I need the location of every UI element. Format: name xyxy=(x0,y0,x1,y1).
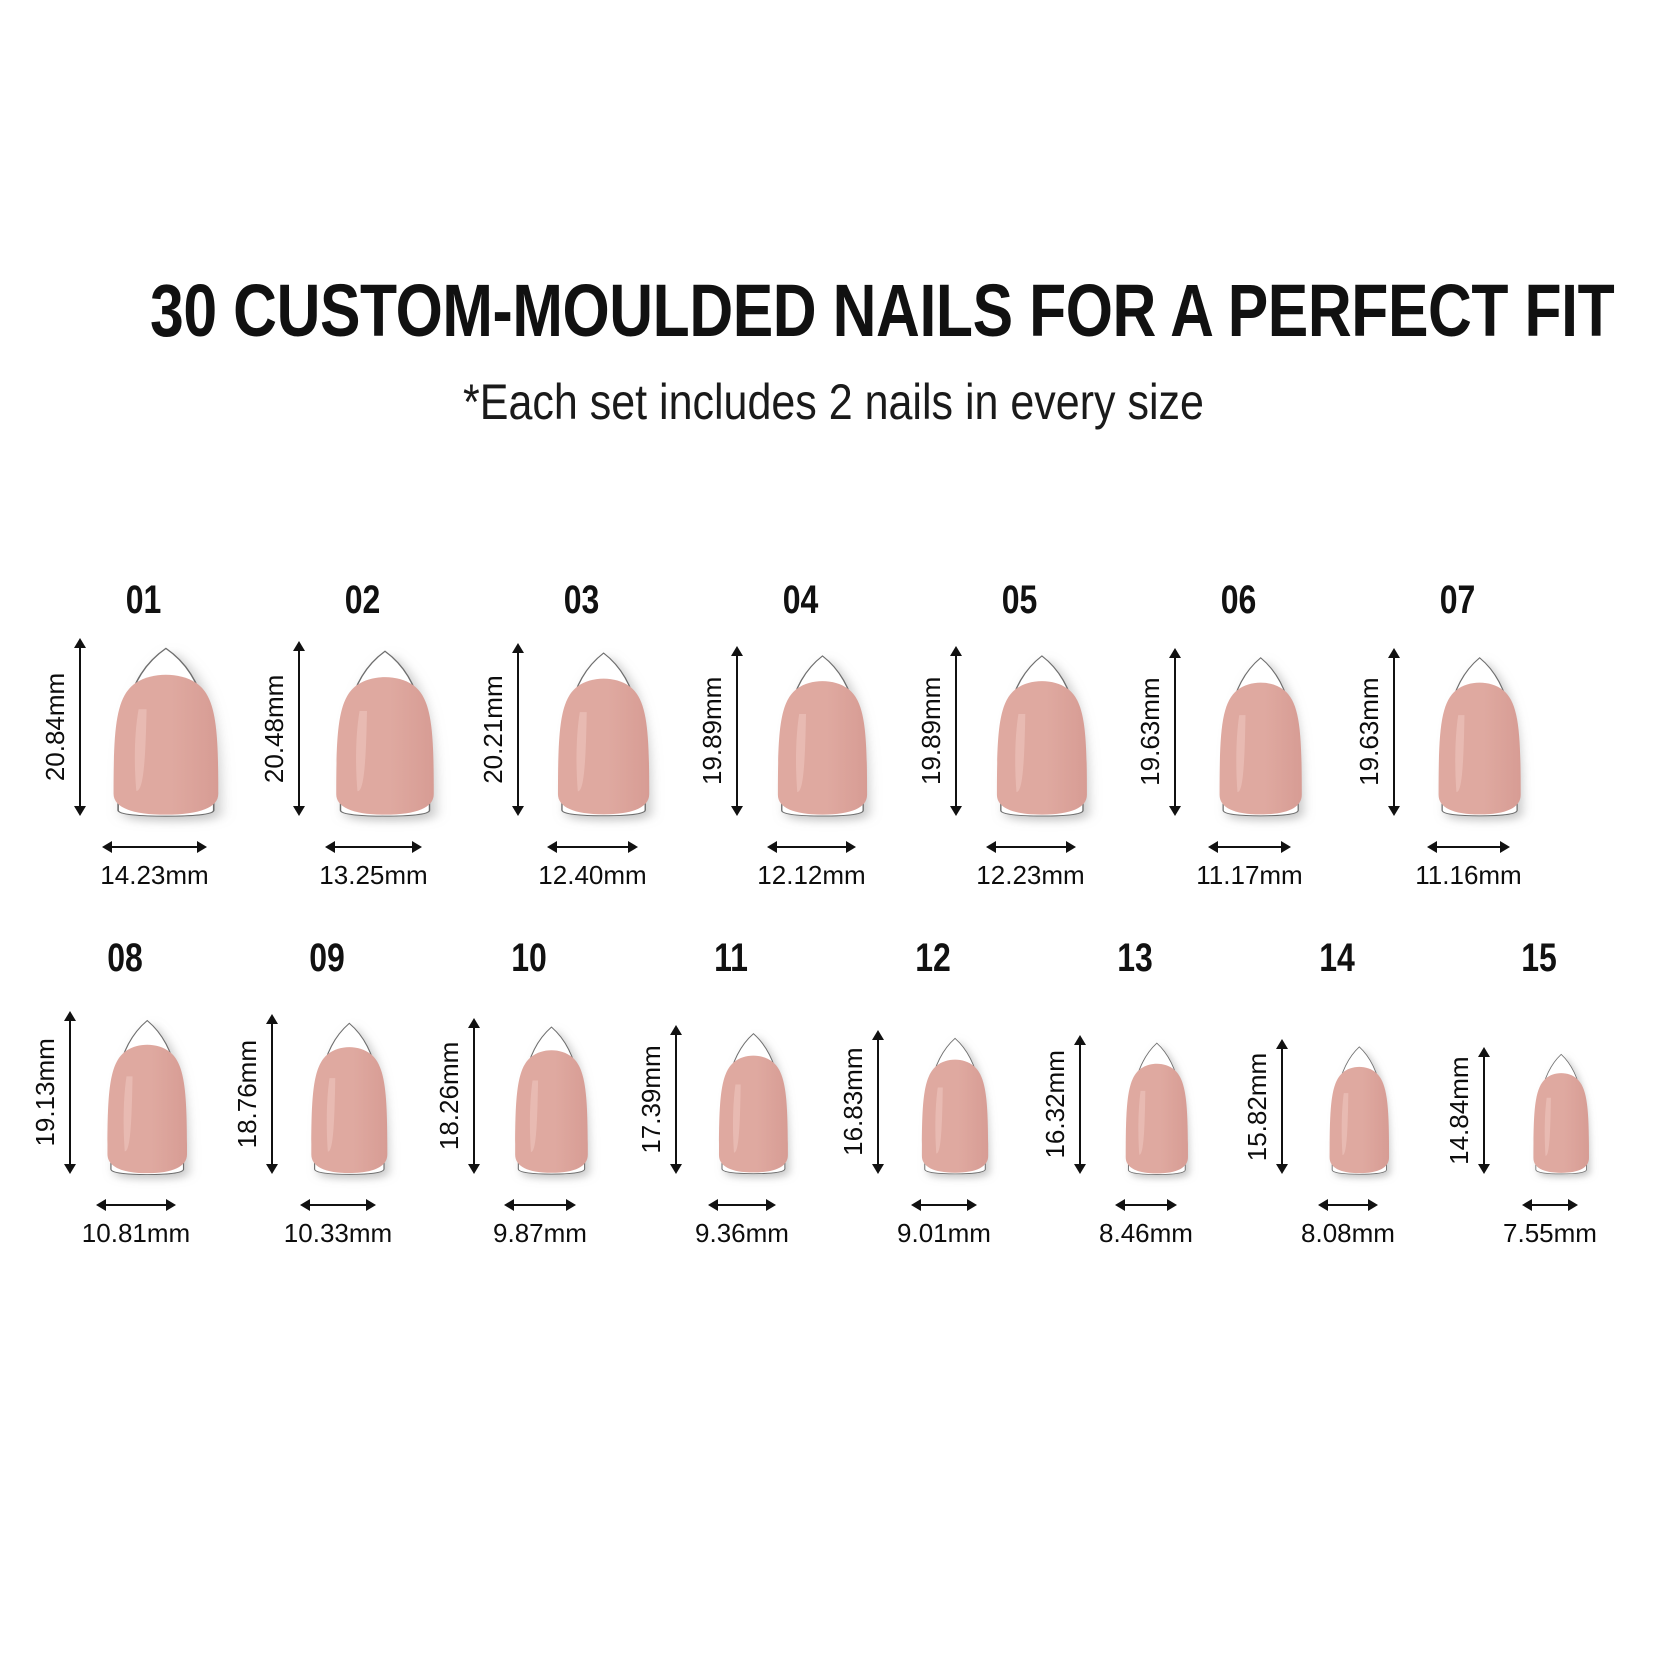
nail-height-label: 20.21mm xyxy=(480,643,506,816)
nail-pink-overlay xyxy=(719,1056,788,1173)
page-subtitle: *Each set includes 2 nails in every size xyxy=(117,350,1551,430)
nail-width-measure: 9.01mm xyxy=(832,1198,1034,1247)
nail-width-arrow-line xyxy=(767,840,856,854)
nail-width-measure: 7.55mm xyxy=(1438,1198,1640,1247)
nail-figure-group: 19.63mm xyxy=(1348,638,1567,868)
nail-size-number: 12 xyxy=(852,938,1014,978)
nail-figure-group: 16.83mm xyxy=(832,996,1034,1226)
arrow-right-icon xyxy=(166,1199,176,1211)
nail-height-arrow-line xyxy=(1073,1035,1087,1175)
nail-shape-illustration xyxy=(1435,648,1524,816)
nail-width-label: 14.23mm xyxy=(100,861,208,889)
nail-figure-group: 20.21mm xyxy=(472,638,691,868)
nail-width-measure: 11.17mm xyxy=(1129,840,1348,889)
nail-height-label: 14.84mm xyxy=(1446,1047,1472,1174)
nail-width-label: 7.55mm xyxy=(1503,1219,1597,1247)
nail-width-measure: 13.25mm xyxy=(253,840,472,889)
nail-shape-illustration xyxy=(512,1018,591,1174)
arrow-left-icon xyxy=(547,841,557,853)
arrow-right-icon xyxy=(1500,841,1510,853)
nail-width-measure: 8.08mm xyxy=(1236,1198,1438,1247)
nail-width-label: 12.23mm xyxy=(976,861,1084,889)
nail-height-measure: 19.63mm xyxy=(1356,648,1401,816)
nail-figure-group: 20.84mm xyxy=(34,638,253,868)
infographic-header: 30 CUSTOM-MOULDED NAILS FOR A PERFECT FI… xyxy=(0,0,1667,430)
nail-svg xyxy=(109,638,223,816)
arrow-up-icon xyxy=(670,1025,682,1035)
nail-pink-overlay xyxy=(1330,1067,1389,1173)
nail-svg xyxy=(308,1014,391,1174)
nail-width-measure: 11.16mm xyxy=(1348,840,1567,889)
nail-pink-overlay xyxy=(922,1060,988,1173)
nail-width-measure: 10.81mm xyxy=(24,1198,226,1247)
nail-figure-group: 19.63mm xyxy=(1129,638,1348,868)
nail-size-number: 02 xyxy=(275,580,450,620)
nail-height-label: 18.76mm xyxy=(234,1014,260,1174)
arrow-left-icon xyxy=(767,841,777,853)
arrow-up-icon xyxy=(950,646,962,656)
arrow-left-icon xyxy=(1115,1199,1125,1211)
arrow-up-icon xyxy=(74,638,86,648)
nail-svg xyxy=(1531,1047,1591,1174)
nail-pink-overlay xyxy=(1220,683,1302,815)
arrow-up-icon xyxy=(1276,1039,1288,1049)
nail-shape-illustration xyxy=(716,1025,791,1174)
arrow-left-icon xyxy=(504,1199,514,1211)
arrow-right-icon xyxy=(566,1199,576,1211)
nail-height-arrow-line xyxy=(949,646,963,816)
nail-width-measure: 12.40mm xyxy=(472,840,691,889)
nail-width-label: 8.46mm xyxy=(1099,1219,1193,1247)
nail-width-label: 13.25mm xyxy=(319,861,427,889)
nail-width-measure: 9.36mm xyxy=(630,1198,832,1247)
nail-height-measure: 17.39mm xyxy=(638,1025,683,1174)
arrow-down-icon xyxy=(512,806,524,816)
nail-height-measure: 18.26mm xyxy=(436,1018,481,1174)
arrow-right-icon xyxy=(197,841,207,853)
nail-size-number: 15 xyxy=(1458,938,1620,978)
nail-height-arrow-line xyxy=(730,646,744,816)
nail-shape-illustration xyxy=(774,646,871,816)
nail-width-arrow-line xyxy=(96,1198,176,1212)
nail-size-number: 09 xyxy=(246,938,408,978)
nail-height-label: 19.13mm xyxy=(32,1011,58,1175)
arrow-down-icon xyxy=(266,1164,278,1174)
arrow-up-icon xyxy=(1478,1047,1490,1057)
nail-width-arrow-line xyxy=(986,840,1076,854)
nail-svg xyxy=(512,1018,591,1174)
arrow-left-icon xyxy=(325,841,335,853)
arrow-left-icon xyxy=(102,841,112,853)
nail-height-measure: 19.89mm xyxy=(699,646,744,816)
nail-height-measure: 15.82mm xyxy=(1244,1039,1289,1174)
arrow-right-icon xyxy=(1167,1199,1177,1211)
arrow-down-icon xyxy=(872,1164,884,1174)
nail-svg xyxy=(1327,1039,1392,1174)
nail-pink-overlay xyxy=(114,675,219,815)
nail-size-number: 01 xyxy=(56,580,231,620)
nail-svg xyxy=(332,641,438,816)
nail-height-label: 16.32mm xyxy=(1042,1035,1068,1175)
nail-height-label: 18.26mm xyxy=(436,1018,462,1174)
nail-pink-overlay xyxy=(778,681,867,815)
nail-width-arrow-line xyxy=(911,1198,977,1212)
nail-size-number: 08 xyxy=(44,938,206,978)
arrow-left-icon xyxy=(1208,841,1218,853)
nail-pink-overlay xyxy=(997,681,1087,815)
nail-svg xyxy=(1123,1035,1191,1175)
nail-pink-overlay xyxy=(1439,683,1521,815)
arrow-left-icon xyxy=(1318,1199,1328,1211)
nail-width-label: 10.33mm xyxy=(284,1219,392,1247)
nail-size-number: 10 xyxy=(448,938,610,978)
nail-width-arrow-line xyxy=(1427,840,1509,854)
nail-width-measure: 10.33mm xyxy=(226,1198,428,1247)
nail-height-measure: 20.84mm xyxy=(42,638,87,816)
arrow-up-icon xyxy=(266,1014,278,1024)
nail-size-number: 06 xyxy=(1151,580,1326,620)
nail-figure-group: 19.89mm xyxy=(910,638,1129,868)
nail-height-measure: 19.89mm xyxy=(918,646,963,816)
nail-height-measure: 16.32mm xyxy=(1042,1035,1087,1175)
arrow-down-icon xyxy=(293,806,305,816)
arrow-up-icon xyxy=(1388,648,1400,658)
arrow-left-icon xyxy=(1522,1199,1532,1211)
nail-height-arrow-line xyxy=(511,643,525,816)
nail-height-measure: 20.21mm xyxy=(480,643,525,816)
nail-figure-group: 14.84mm xyxy=(1438,996,1640,1226)
arrow-down-icon xyxy=(1074,1164,1086,1174)
arrow-down-icon xyxy=(1388,806,1400,816)
nail-width-arrow-line xyxy=(1208,840,1290,854)
nail-pink-overlay xyxy=(558,679,649,815)
nail-pink-overlay xyxy=(515,1050,588,1173)
nail-width-measure: 12.12mm xyxy=(691,840,910,889)
nail-svg xyxy=(716,1025,791,1174)
arrow-left-icon xyxy=(1427,841,1437,853)
arrow-up-icon xyxy=(1074,1035,1086,1045)
nail-height-label: 19.89mm xyxy=(699,646,725,816)
arrow-right-icon xyxy=(366,1199,376,1211)
arrow-down-icon xyxy=(1478,1164,1490,1174)
nail-height-arrow-line xyxy=(1168,648,1182,816)
nail-height-arrow-line xyxy=(467,1018,481,1174)
arrow-down-icon xyxy=(1169,806,1181,816)
nail-width-label: 8.08mm xyxy=(1301,1219,1395,1247)
nail-figure-group: 20.48mm xyxy=(253,638,472,868)
nail-height-arrow-line xyxy=(1275,1039,1289,1174)
nail-height-arrow-line xyxy=(871,1030,885,1174)
nail-size-number: 14 xyxy=(1256,938,1418,978)
arrow-up-icon xyxy=(64,1011,76,1021)
nail-width-arrow-line xyxy=(102,840,207,854)
nail-size-number: 05 xyxy=(932,580,1107,620)
nail-svg xyxy=(993,646,1091,816)
nail-pink-overlay xyxy=(1533,1073,1589,1173)
nail-svg xyxy=(1216,648,1305,816)
arrow-right-icon xyxy=(412,841,422,853)
nail-width-measure: 14.23mm xyxy=(34,840,253,889)
nail-height-arrow-line xyxy=(1387,648,1401,816)
nail-height-measure: 20.48mm xyxy=(261,641,306,816)
nail-width-arrow-line xyxy=(1318,1198,1377,1212)
nail-size-number: 04 xyxy=(713,580,888,620)
nail-width-arrow-line xyxy=(708,1198,777,1212)
nail-height-arrow-line xyxy=(1477,1047,1491,1174)
nail-shape-illustration xyxy=(308,1014,391,1174)
nail-width-measure: 12.23mm xyxy=(910,840,1129,889)
nail-figure-group: 18.76mm xyxy=(226,996,428,1226)
arrow-down-icon xyxy=(468,1164,480,1174)
nail-height-measure: 18.76mm xyxy=(234,1014,279,1174)
nail-width-label: 12.40mm xyxy=(538,861,646,889)
arrow-right-icon xyxy=(846,841,856,853)
nail-svg xyxy=(554,643,653,816)
nail-width-arrow-line xyxy=(300,1198,376,1212)
nail-height-arrow-line xyxy=(63,1011,77,1175)
nail-width-arrow-line xyxy=(547,840,638,854)
nail-shape-illustration xyxy=(554,643,653,816)
arrow-left-icon xyxy=(986,841,996,853)
arrow-right-icon xyxy=(967,1199,977,1211)
nail-height-label: 19.63mm xyxy=(1356,648,1382,816)
arrow-right-icon xyxy=(1281,841,1291,853)
arrow-left-icon xyxy=(911,1199,921,1211)
nail-figure-group: 18.26mm xyxy=(428,996,630,1226)
nail-width-measure: 8.46mm xyxy=(1034,1198,1236,1247)
nail-shape-illustration xyxy=(332,641,438,816)
nail-svg xyxy=(919,1030,991,1174)
arrow-up-icon xyxy=(1169,648,1181,658)
arrow-left-icon xyxy=(708,1199,718,1211)
arrow-down-icon xyxy=(1276,1164,1288,1174)
arrow-right-icon xyxy=(766,1199,776,1211)
arrow-right-icon xyxy=(1066,841,1076,853)
nail-height-label: 20.48mm xyxy=(261,641,287,816)
nail-height-arrow-line xyxy=(292,641,306,816)
nail-pink-overlay xyxy=(107,1044,187,1172)
arrow-down-icon xyxy=(670,1164,682,1174)
arrow-up-icon xyxy=(293,641,305,651)
nail-width-label: 9.87mm xyxy=(493,1219,587,1247)
arrow-down-icon xyxy=(64,1164,76,1174)
nail-width-label: 10.81mm xyxy=(82,1219,190,1247)
nail-width-label: 12.12mm xyxy=(757,861,865,889)
nail-svg xyxy=(104,1011,190,1175)
nail-figure-group: 19.89mm xyxy=(691,638,910,868)
arrow-left-icon xyxy=(300,1199,310,1211)
nail-size-number: 13 xyxy=(1054,938,1216,978)
arrow-down-icon xyxy=(74,806,86,816)
nail-size-number: 11 xyxy=(650,938,812,978)
nail-height-label: 17.39mm xyxy=(638,1025,664,1174)
arrow-right-icon xyxy=(1368,1199,1378,1211)
arrow-up-icon xyxy=(731,646,743,656)
nail-height-arrow-line xyxy=(265,1014,279,1174)
nail-height-arrow-line xyxy=(73,638,87,816)
nail-figure-group: 17.39mm xyxy=(630,996,832,1226)
nail-figure-group: 16.32mm xyxy=(1034,996,1236,1226)
nail-size-number: 03 xyxy=(494,580,669,620)
nail-pink-overlay xyxy=(1126,1063,1188,1173)
nail-size-number: 07 xyxy=(1370,580,1545,620)
arrow-right-icon xyxy=(1568,1199,1578,1211)
nail-figure-group: 19.13mm xyxy=(24,996,226,1226)
nail-shape-illustration xyxy=(919,1030,991,1174)
nail-width-arrow-line xyxy=(1522,1198,1578,1212)
nail-figure-group: 15.82mm xyxy=(1236,996,1438,1226)
nail-pink-overlay xyxy=(336,677,434,815)
nail-height-label: 15.82mm xyxy=(1244,1039,1270,1174)
arrow-down-icon xyxy=(950,806,962,816)
nail-height-measure: 19.13mm xyxy=(32,1011,77,1175)
nail-shape-illustration xyxy=(993,646,1091,816)
nail-width-arrow-line xyxy=(325,840,423,854)
nail-shape-illustration xyxy=(1123,1035,1191,1175)
arrow-up-icon xyxy=(468,1018,480,1028)
nail-height-measure: 19.63mm xyxy=(1137,648,1182,816)
nail-pink-overlay xyxy=(311,1047,387,1173)
nail-height-arrow-line xyxy=(669,1025,683,1174)
page-title: 30 CUSTOM-MOULDED NAILS FOR A PERFECT FI… xyxy=(150,0,1517,350)
nail-height-measure: 14.84mm xyxy=(1446,1047,1491,1174)
arrow-up-icon xyxy=(512,643,524,653)
nail-height-label: 19.89mm xyxy=(918,646,944,816)
arrow-down-icon xyxy=(731,806,743,816)
nail-shape-illustration xyxy=(109,638,223,816)
nail-svg xyxy=(774,646,871,816)
nail-width-label: 11.16mm xyxy=(1415,861,1521,889)
nail-shape-illustration xyxy=(104,1011,190,1175)
nail-width-arrow-line xyxy=(504,1198,577,1212)
nail-height-label: 16.83mm xyxy=(840,1030,866,1174)
nail-width-measure: 9.87mm xyxy=(428,1198,630,1247)
nail-width-label: 9.36mm xyxy=(695,1219,789,1247)
nail-svg xyxy=(1435,648,1524,816)
arrow-right-icon xyxy=(628,841,638,853)
nail-shape-illustration xyxy=(1216,648,1305,816)
nail-shape-illustration xyxy=(1327,1039,1392,1174)
nail-height-label: 19.63mm xyxy=(1137,648,1163,816)
nail-height-measure: 16.83mm xyxy=(840,1030,885,1174)
nail-height-label: 20.84mm xyxy=(42,638,68,816)
nail-width-label: 11.17mm xyxy=(1196,861,1302,889)
arrow-left-icon xyxy=(96,1199,106,1211)
arrow-up-icon xyxy=(872,1030,884,1040)
nail-width-arrow-line xyxy=(1115,1198,1177,1212)
nail-shape-illustration xyxy=(1531,1047,1591,1174)
nail-width-label: 9.01mm xyxy=(897,1219,991,1247)
